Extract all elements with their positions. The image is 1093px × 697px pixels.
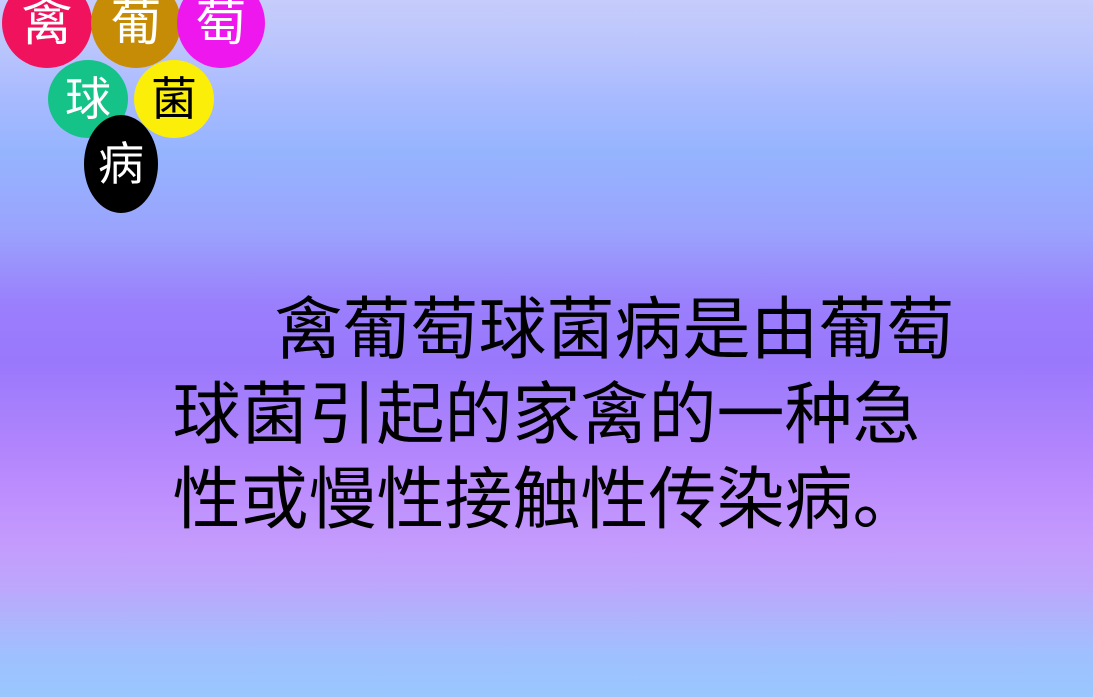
title-bubble-bing: 病	[84, 115, 158, 213]
body-text-line-3: 性或慢性接触性传染病。	[0, 458, 1093, 543]
body-text-line-2: 球菌引起的家禽的一种急	[0, 373, 1093, 458]
title-bubble-qin-label: 禽	[21, 0, 72, 49]
body-text-line-1: 禽葡萄球菌病是由葡萄	[0, 288, 1093, 373]
title-bubble-jun-label: 菌	[151, 76, 197, 122]
slide-body-text: 禽葡萄球菌病是由葡萄 球菌引起的家禽的一种急 性或慢性接触性传染病。	[0, 288, 1093, 543]
title-bubble-bing-label: 病	[98, 141, 144, 187]
slide-canvas: 禽 葡 萄 球 菌 病 禽葡萄球菌病是由葡萄 球菌引起的家禽的一种急 性或慢性接…	[0, 0, 1093, 697]
title-bubble-jun: 菌	[134, 60, 214, 138]
title-bubble-tao-label: 萄	[195, 0, 246, 49]
title-bubble-qin: 禽	[2, 0, 92, 68]
title-bubble-qiu-label: 球	[65, 76, 111, 122]
title-bubble-tao: 萄	[177, 0, 265, 68]
title-bubble-cluster: 禽 葡 萄 球 菌 病	[0, 0, 280, 220]
title-bubble-pu: 葡	[91, 0, 181, 68]
title-bubble-pu-label: 葡	[110, 0, 161, 49]
